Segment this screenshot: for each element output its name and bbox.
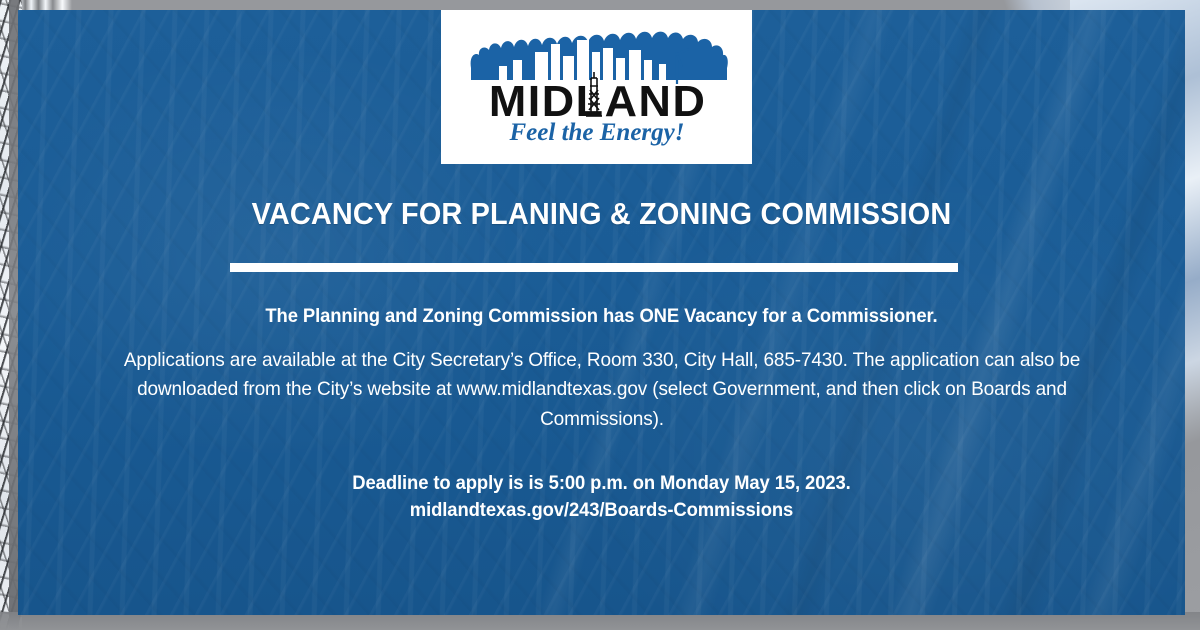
body-content: The Planning and Zoning Commission has O… — [60, 305, 1143, 525]
deadline-block: Deadline to apply is is 5:00 p.m. on Mon… — [76, 471, 1127, 525]
flyer-canvas: MIDLAND Feel the Energy! — [0, 0, 1200, 630]
svg-text:Feel the Energy!: Feel the Energy! — [508, 119, 684, 146]
divider — [230, 263, 958, 272]
midland-logo-icon: MIDLAND Feel the Energy! — [463, 22, 731, 146]
logo-card: MIDLAND Feel the Energy! — [441, 10, 752, 164]
lede-text: The Planning and Zoning Commission has O… — [76, 305, 1127, 330]
midland-logo: MIDLAND Feel the Energy! — [463, 22, 731, 146]
boards-commissions-url[interactable]: midlandtexas.gov/243/Boards-Commissions — [76, 498, 1127, 525]
page-title: VACANCY FOR PLANING & ZONING COMMISSION — [59, 196, 1144, 232]
application-paragraph: Applications are available at the City S… — [99, 346, 1103, 435]
blue-flyer-panel: MIDLAND Feel the Energy! — [18, 10, 1185, 615]
deadline-text: Deadline to apply is is 5:00 p.m. on Mon… — [352, 473, 850, 494]
